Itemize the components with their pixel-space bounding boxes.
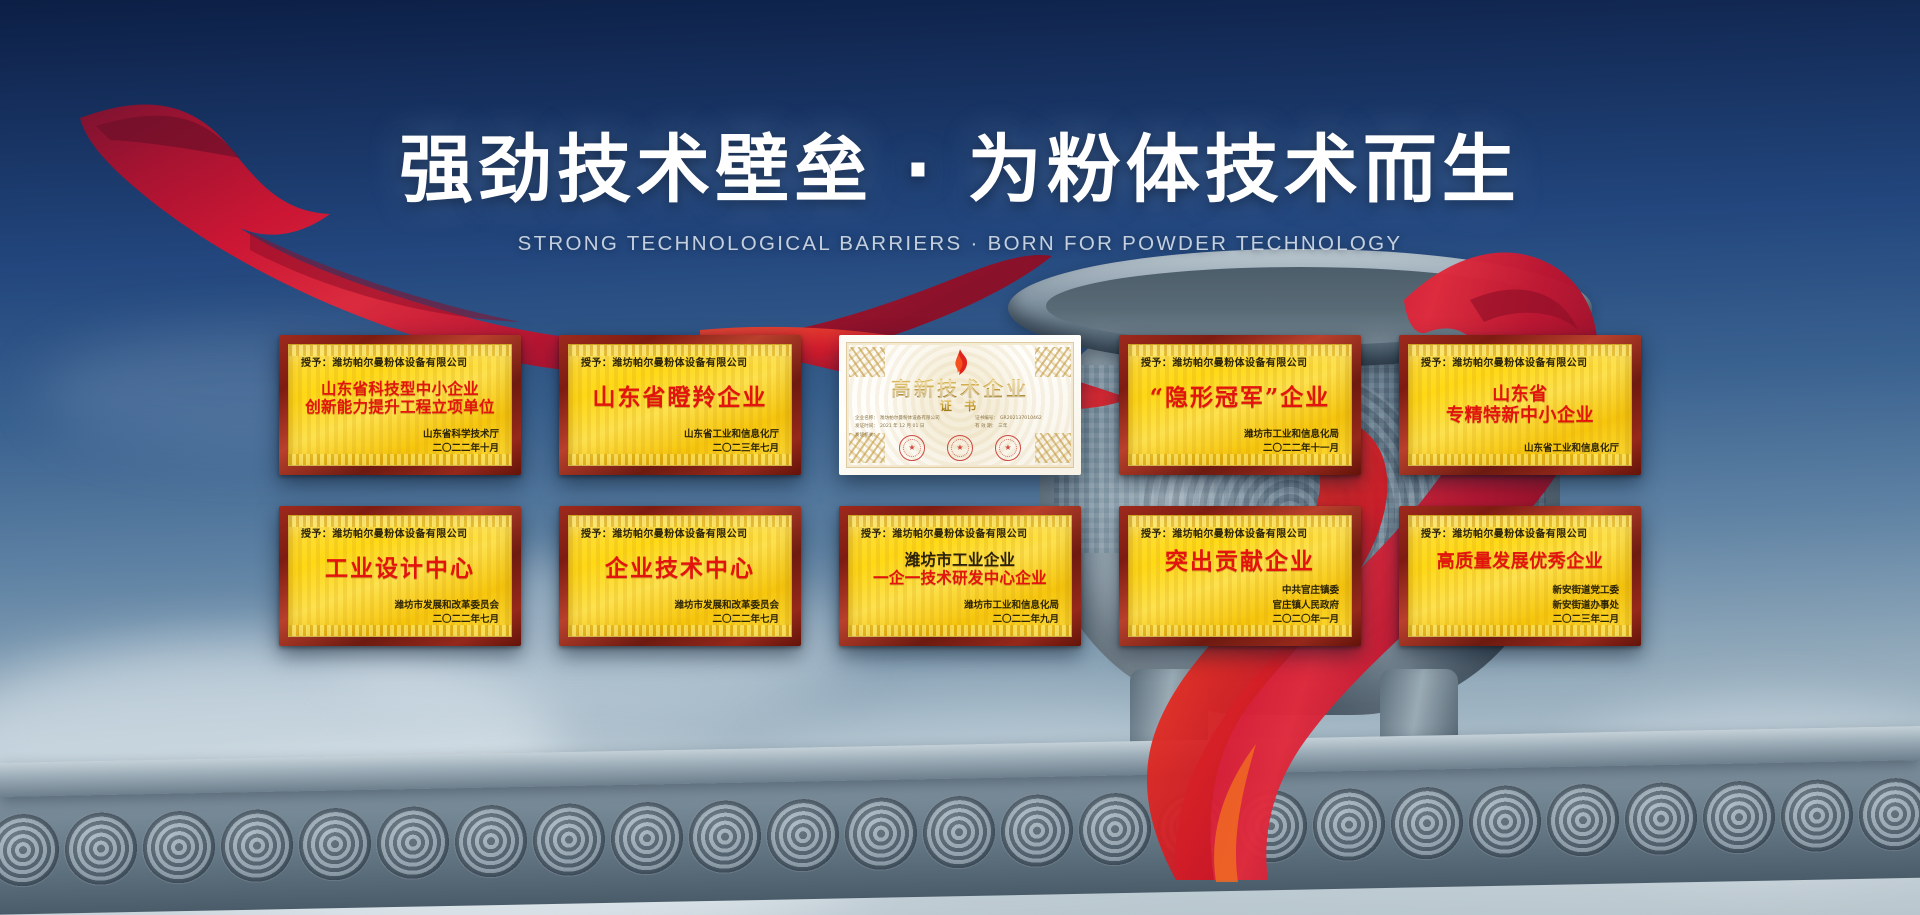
plaque-awarded-to: 授予：潍坊帕尔曼粉体设备有限公司 [1421, 354, 1619, 369]
plaque-face: 授予：潍坊帕尔曼粉体设备有限公司高质量发展优秀企业新安街道党工委新安街道办事处二… [1408, 515, 1632, 637]
plaque-awarded-to: 授予：潍坊帕尔曼粉体设备有限公司 [581, 354, 779, 369]
plaque-issuer: 中共官庄镇委 [1141, 584, 1339, 599]
plaque-dengling-qiye[interactable]: 授予：潍坊帕尔曼粉体设备有限公司山东省瞪羚企业山东省工业和信息化厅二〇二三年七月 [559, 335, 801, 475]
plaque-title: 山东省科技型中小企业创新能力提升工程立项单位 [301, 370, 499, 426]
flame-logo-icon [949, 349, 971, 375]
certificate-field-row: 发证时间：2021 年 12 月 01 日有 效 期：三年 [855, 423, 1065, 431]
plaque-title: 高质量发展优秀企业 [1421, 541, 1619, 582]
plaque-awarded-to: 授予：潍坊帕尔曼粉体设备有限公司 [861, 525, 1059, 540]
certificate-field-row: 企业名称：潍坊帕尔曼粉体设备有限公司证书编号：GR202137010462 [855, 415, 1065, 423]
plaque-issuer-block: 潍坊市发展和改革委员会二〇二二年七月 [301, 599, 499, 628]
plaque-kejixing-zhongxiao[interactable]: 授予：潍坊帕尔曼粉体设备有限公司山东省科技型中小企业创新能力提升工程立项单位山东… [279, 335, 521, 475]
plaque-title-line: 企业技术中心 [605, 555, 755, 582]
honors-row-1: 授予：潍坊帕尔曼粉体设备有限公司山东省科技型中小企业创新能力提升工程立项单位山东… [0, 335, 1920, 475]
certificate-field-value: 潍坊帕尔曼粉体设备有限公司 [880, 415, 940, 423]
plaque-face: 授予：潍坊帕尔曼粉体设备有限公司工业设计中心潍坊市发展和改革委员会二〇二二年七月 [288, 515, 512, 637]
certificate-field: 有 效 期：三年 [975, 423, 1065, 431]
plaque-title-line: 潍坊市工业企业 [905, 551, 1016, 569]
plaque-face: 授予：潍坊帕尔曼粉体设备有限公司潍坊市工业企业一企一技术研发中心企业潍坊市工业和… [848, 515, 1072, 637]
certificate-field-label: 企业名称： [855, 415, 878, 423]
plaque-awarded-to: 授予：潍坊帕尔曼粉体设备有限公司 [1141, 354, 1339, 369]
certificate-field-value: GR202137010462 [1000, 415, 1042, 423]
plaque-title: 山东省瞪羚企业 [581, 370, 779, 426]
official-seal-icon [995, 435, 1021, 461]
plaque-issuer-block: 山东省科学技术厅二〇二二年十月 [301, 428, 499, 457]
plaque-zhuanjing-texin[interactable]: 授予：潍坊帕尔曼粉体设备有限公司山东省专精特新中小企业山东省工业和信息化厅 [1399, 335, 1641, 475]
plaque-title-line: 一企一技术研发中心企业 [873, 569, 1047, 587]
cloud-decoration [1560, 700, 1920, 870]
honors-grid: 授予：潍坊帕尔曼粉体设备有限公司山东省科技型中小企业创新能力提升工程立项单位山东… [0, 335, 1920, 646]
plaque-issuer: 新安街道党工委 [1421, 584, 1619, 599]
plaque-issuer: 潍坊市发展和改革委员会 [301, 599, 499, 614]
plaque-face: 授予：潍坊帕尔曼粉体设备有限公司突出贡献企业中共官庄镇委官庄镇人民政府二〇二〇年… [1128, 515, 1352, 637]
plaque-issuer-block: 潍坊市工业和信息化局二〇二二年九月 [861, 599, 1059, 628]
plaque-title-line: 工业设计中心 [325, 555, 475, 582]
plaque-issuer: 潍坊市工业和信息化局 [1141, 428, 1339, 443]
plaque-face: 授予：潍坊帕尔曼粉体设备有限公司山东省科技型中小企业创新能力提升工程立项单位山东… [288, 344, 512, 466]
plaque-title-line: “隐形冠军”企业 [1150, 384, 1330, 411]
plaque-title: 山东省专精特新中小企业 [1421, 370, 1619, 440]
certificate-seals [839, 435, 1081, 461]
plaque-tuchu-gongxian[interactable]: 授予：潍坊帕尔曼粉体设备有限公司突出贡献企业中共官庄镇委官庄镇人民政府二〇二〇年… [1119, 506, 1361, 646]
plaque-date: 二〇二二年十月 [301, 442, 499, 457]
plaque-yinxing-guanjun[interactable]: 授予：潍坊帕尔曼粉体设备有限公司“隐形冠军”企业潍坊市工业和信息化局二〇二二年十… [1119, 335, 1361, 475]
plaque-issuer: 官庄镇人民政府 [1141, 599, 1339, 614]
plaque-date: 二〇二〇年一月 [1141, 613, 1339, 628]
plaque-issuer-block: 潍坊市发展和改革委员会二〇二二年七月 [581, 599, 779, 628]
banner-stage: 强劲技术壁垒 · 为粉体技术而生 STRONG TECHNOLOGICAL BA… [0, 0, 1920, 915]
plaque-title-line: 专精特新中小企业 [1446, 405, 1594, 426]
cloud-decoration [0, 640, 560, 840]
certificate-field: 企业名称：潍坊帕尔曼粉体设备有限公司 [855, 415, 967, 423]
certificate-gaoxin-jishu-qiye[interactable]: 高新技术企业证 书企业名称：潍坊帕尔曼粉体设备有限公司证书编号：GR202137… [839, 335, 1081, 475]
plaque-date: 二〇二二年七月 [581, 613, 779, 628]
plaque-issuer-block: 中共官庄镇委官庄镇人民政府二〇二〇年一月 [1141, 584, 1339, 628]
plaque-awarded-to: 授予：潍坊帕尔曼粉体设备有限公司 [1141, 525, 1339, 540]
honors-row-2: 授予：潍坊帕尔曼粉体设备有限公司工业设计中心潍坊市发展和改革委员会二〇二二年七月… [0, 506, 1920, 646]
plaque-date: 二〇二三年二月 [1421, 613, 1619, 628]
plaque-title-line: 创新能力提升工程立项单位 [305, 398, 495, 416]
plaque-title: 潍坊市工业企业一企一技术研发中心企业 [861, 541, 1059, 597]
certificate-field-label: 有 效 期： [975, 423, 996, 431]
certificate-field: 证书编号：GR202137010462 [975, 415, 1065, 423]
plaque-yiqi-yijishu-yanfa[interactable]: 授予：潍坊帕尔曼粉体设备有限公司潍坊市工业企业一企一技术研发中心企业潍坊市工业和… [839, 506, 1081, 646]
plaque-title-line: 山东省 [1492, 384, 1548, 405]
plaque-title: 突出贡献企业 [1141, 541, 1339, 582]
plaque-title: 工业设计中心 [301, 541, 499, 597]
plaque-issuer: 潍坊市发展和改革委员会 [581, 599, 779, 614]
certificate-subtitle: 证 书 [839, 397, 1081, 414]
stone-balustrade-decoration [0, 740, 1920, 915]
plaque-issuer-block: 山东省工业和信息化厅二〇二三年七月 [581, 428, 779, 457]
plaque-issuer-block: 新安街道党工委新安街道办事处二〇二三年二月 [1421, 584, 1619, 628]
plaque-date: 二〇二二年九月 [861, 613, 1059, 628]
plaque-issuer: 山东省科学技术厅 [301, 428, 499, 443]
plaque-gongye-sheji-zhongxin[interactable]: 授予：潍坊帕尔曼粉体设备有限公司工业设计中心潍坊市发展和改革委员会二〇二二年七月 [279, 506, 521, 646]
plaque-awarded-to: 授予：潍坊帕尔曼粉体设备有限公司 [581, 525, 779, 540]
headline-subtitle-en: STRONG TECHNOLOGICAL BARRIERS · BORN FOR… [0, 232, 1920, 256]
plaque-gaozhiliang-fazhan[interactable]: 授予：潍坊帕尔曼粉体设备有限公司高质量发展优秀企业新安街道党工委新安街道办事处二… [1399, 506, 1641, 646]
plaque-issuer-block: 潍坊市工业和信息化局二〇二二年十一月 [1141, 428, 1339, 457]
plaque-title: 企业技术中心 [581, 541, 779, 597]
plaque-awarded-to: 授予：潍坊帕尔曼粉体设备有限公司 [1421, 525, 1619, 540]
cloud-decoration [120, 760, 880, 915]
plaque-face: 授予：潍坊帕尔曼粉体设备有限公司企业技术中心潍坊市发展和改革委员会二〇二二年七月 [568, 515, 792, 637]
plaque-title: “隐形冠军”企业 [1141, 370, 1339, 426]
plaque-title-line: 突出贡献企业 [1165, 548, 1315, 575]
plaque-face: 授予：潍坊帕尔曼粉体设备有限公司“隐形冠军”企业潍坊市工业和信息化局二〇二二年十… [1128, 344, 1352, 466]
certificate-field: 发证时间：2021 年 12 月 01 日 [855, 423, 967, 431]
plaque-issuer: 潍坊市工业和信息化局 [861, 599, 1059, 614]
plaque-date: 二〇二三年七月 [581, 442, 779, 457]
plaque-qiye-jishu-zhongxin[interactable]: 授予：潍坊帕尔曼粉体设备有限公司企业技术中心潍坊市发展和改革委员会二〇二二年七月 [559, 506, 801, 646]
plaque-title-line: 山东省瞪羚企业 [593, 384, 768, 411]
plaque-title-line: 高质量发展优秀企业 [1437, 551, 1604, 572]
official-seal-icon [947, 435, 973, 461]
plaque-awarded-to: 授予：潍坊帕尔曼粉体设备有限公司 [301, 525, 499, 540]
plaque-face: 授予：潍坊帕尔曼粉体设备有限公司山东省瞪羚企业山东省工业和信息化厅二〇二三年七月 [568, 344, 792, 466]
plaque-title-line: 山东省科技型中小企业 [321, 380, 479, 398]
certificate-field-value: 2021 年 12 月 01 日 [880, 423, 924, 431]
plaque-issuer: 新安街道办事处 [1421, 599, 1619, 614]
plaque-issuer-block: 山东省工业和信息化厅 [1421, 442, 1619, 457]
plaque-issuer: 山东省工业和信息化厅 [1421, 442, 1619, 457]
plaque-awarded-to: 授予：潍坊帕尔曼粉体设备有限公司 [301, 354, 499, 369]
plaque-face: 授予：潍坊帕尔曼粉体设备有限公司山东省专精特新中小企业山东省工业和信息化厅 [1408, 344, 1632, 466]
plaque-date: 二〇二二年七月 [301, 613, 499, 628]
certificate-field-value: 三年 [998, 423, 1007, 431]
plaque-date: 二〇二二年十一月 [1141, 442, 1339, 457]
plaque-issuer: 山东省工业和信息化厅 [581, 428, 779, 443]
official-seal-icon [899, 435, 925, 461]
cloud-decoration [760, 700, 1240, 860]
certificate-field-label: 证书编号： [975, 415, 998, 423]
headline-title-zh: 强劲技术壁垒 · 为粉体技术而生 [0, 132, 1920, 210]
headline-block: 强劲技术壁垒 · 为粉体技术而生 STRONG TECHNOLOGICAL BA… [0, 132, 1920, 256]
certificate-field-label: 发证时间： [855, 423, 878, 431]
